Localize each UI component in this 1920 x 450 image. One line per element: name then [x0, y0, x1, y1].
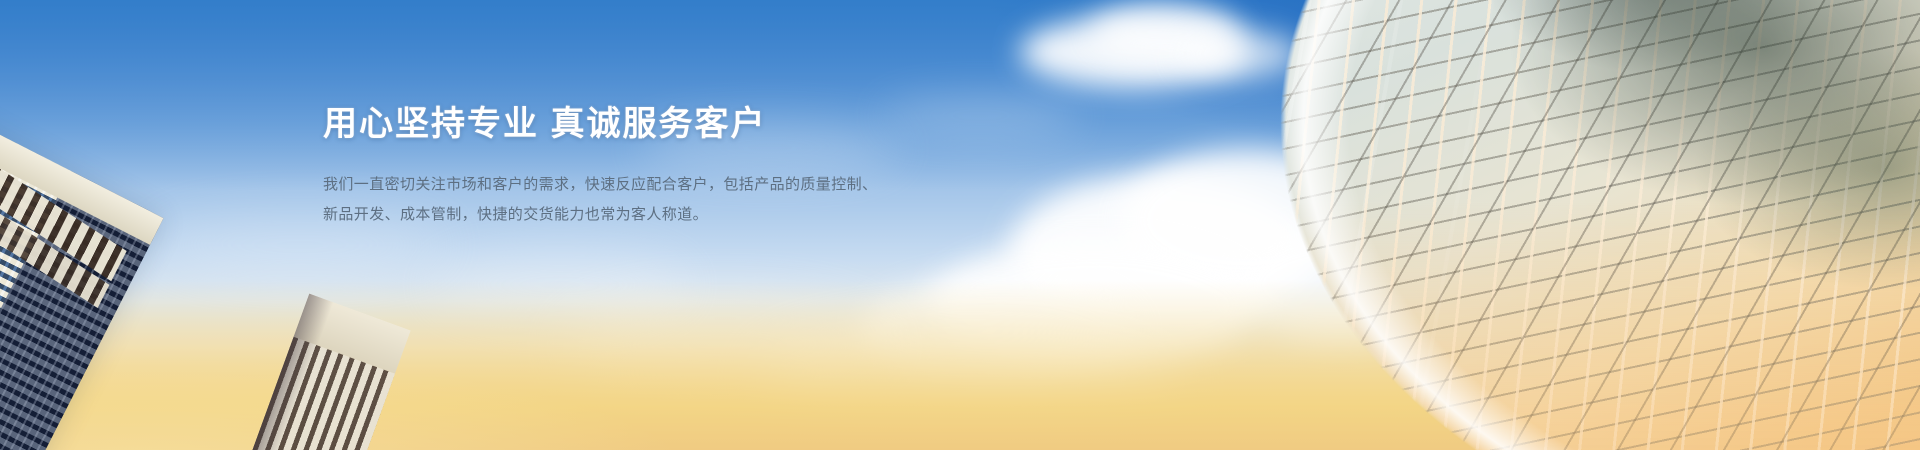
curved-glass-tower	[1060, 0, 1920, 450]
facade-edge-highlight	[1060, 0, 1920, 450]
banner-headline: 用心坚持专业 真诚服务客户	[323, 106, 1103, 143]
hero-banner: 用心坚持专业 真诚服务客户 我们一直密切关注市场和客户的需求，快速反应配合客户，…	[0, 0, 1920, 450]
banner-description-line: 我们一直密切关注市场和客户的需求，快速反应配合客户，包括产品的质量控制、	[323, 170, 1103, 200]
banner-description-line: 新品开发、成本管制，快捷的交货能力也常为客人称道。	[323, 200, 1103, 230]
banner-description: 我们一直密切关注市场和客户的需求，快速反应配合客户，包括产品的质量控制、 新品开…	[323, 170, 1103, 230]
banner-text-block: 用心坚持专业 真诚服务客户 我们一直密切关注市场和客户的需求，快速反应配合客户，…	[323, 106, 1103, 230]
